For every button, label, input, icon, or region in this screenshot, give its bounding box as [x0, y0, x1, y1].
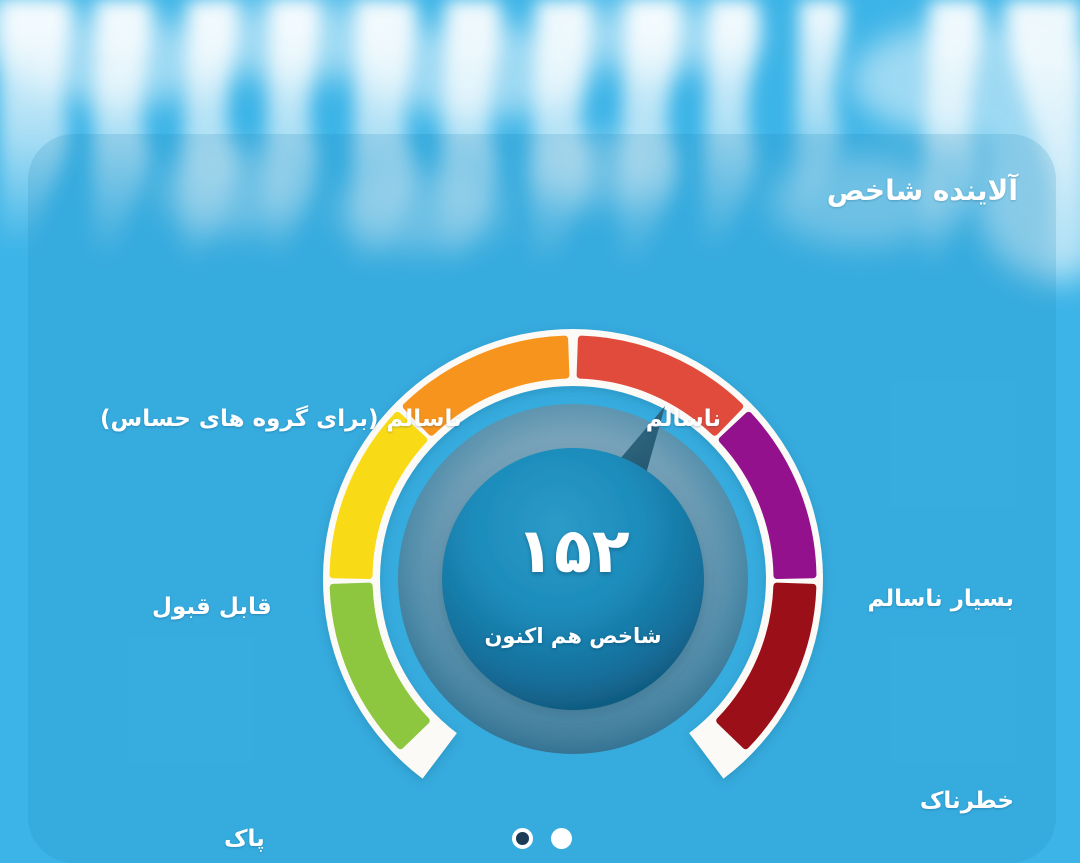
gauge-graphic [323, 329, 823, 829]
gauge-core-disc [442, 448, 704, 710]
pagination-dot-2[interactable] [512, 828, 533, 849]
gauge-label-unhealthy-sensitive: ناسالم (برای گروه های حساس) [100, 406, 462, 434]
gauge-label-very-unhealthy: بسیار ناسالم [867, 586, 1014, 614]
aqi-card: آلاینده شاخص [28, 134, 1056, 863]
gauge-label-moderate: قابل قبول [152, 594, 272, 622]
gauge-label-hazardous: خطرناک [920, 788, 1014, 816]
pagination-dot-1[interactable] [551, 828, 572, 849]
carousel-pagination[interactable] [28, 828, 1056, 849]
page-title: آلاینده شاخص [827, 174, 1018, 207]
gauge-label-unhealthy: ناسالم [646, 406, 721, 434]
aqi-gauge[interactable]: ۱۵۲ شاخص هم اکنون [323, 329, 823, 829]
screen-root: آلاینده شاخص [0, 0, 1080, 863]
